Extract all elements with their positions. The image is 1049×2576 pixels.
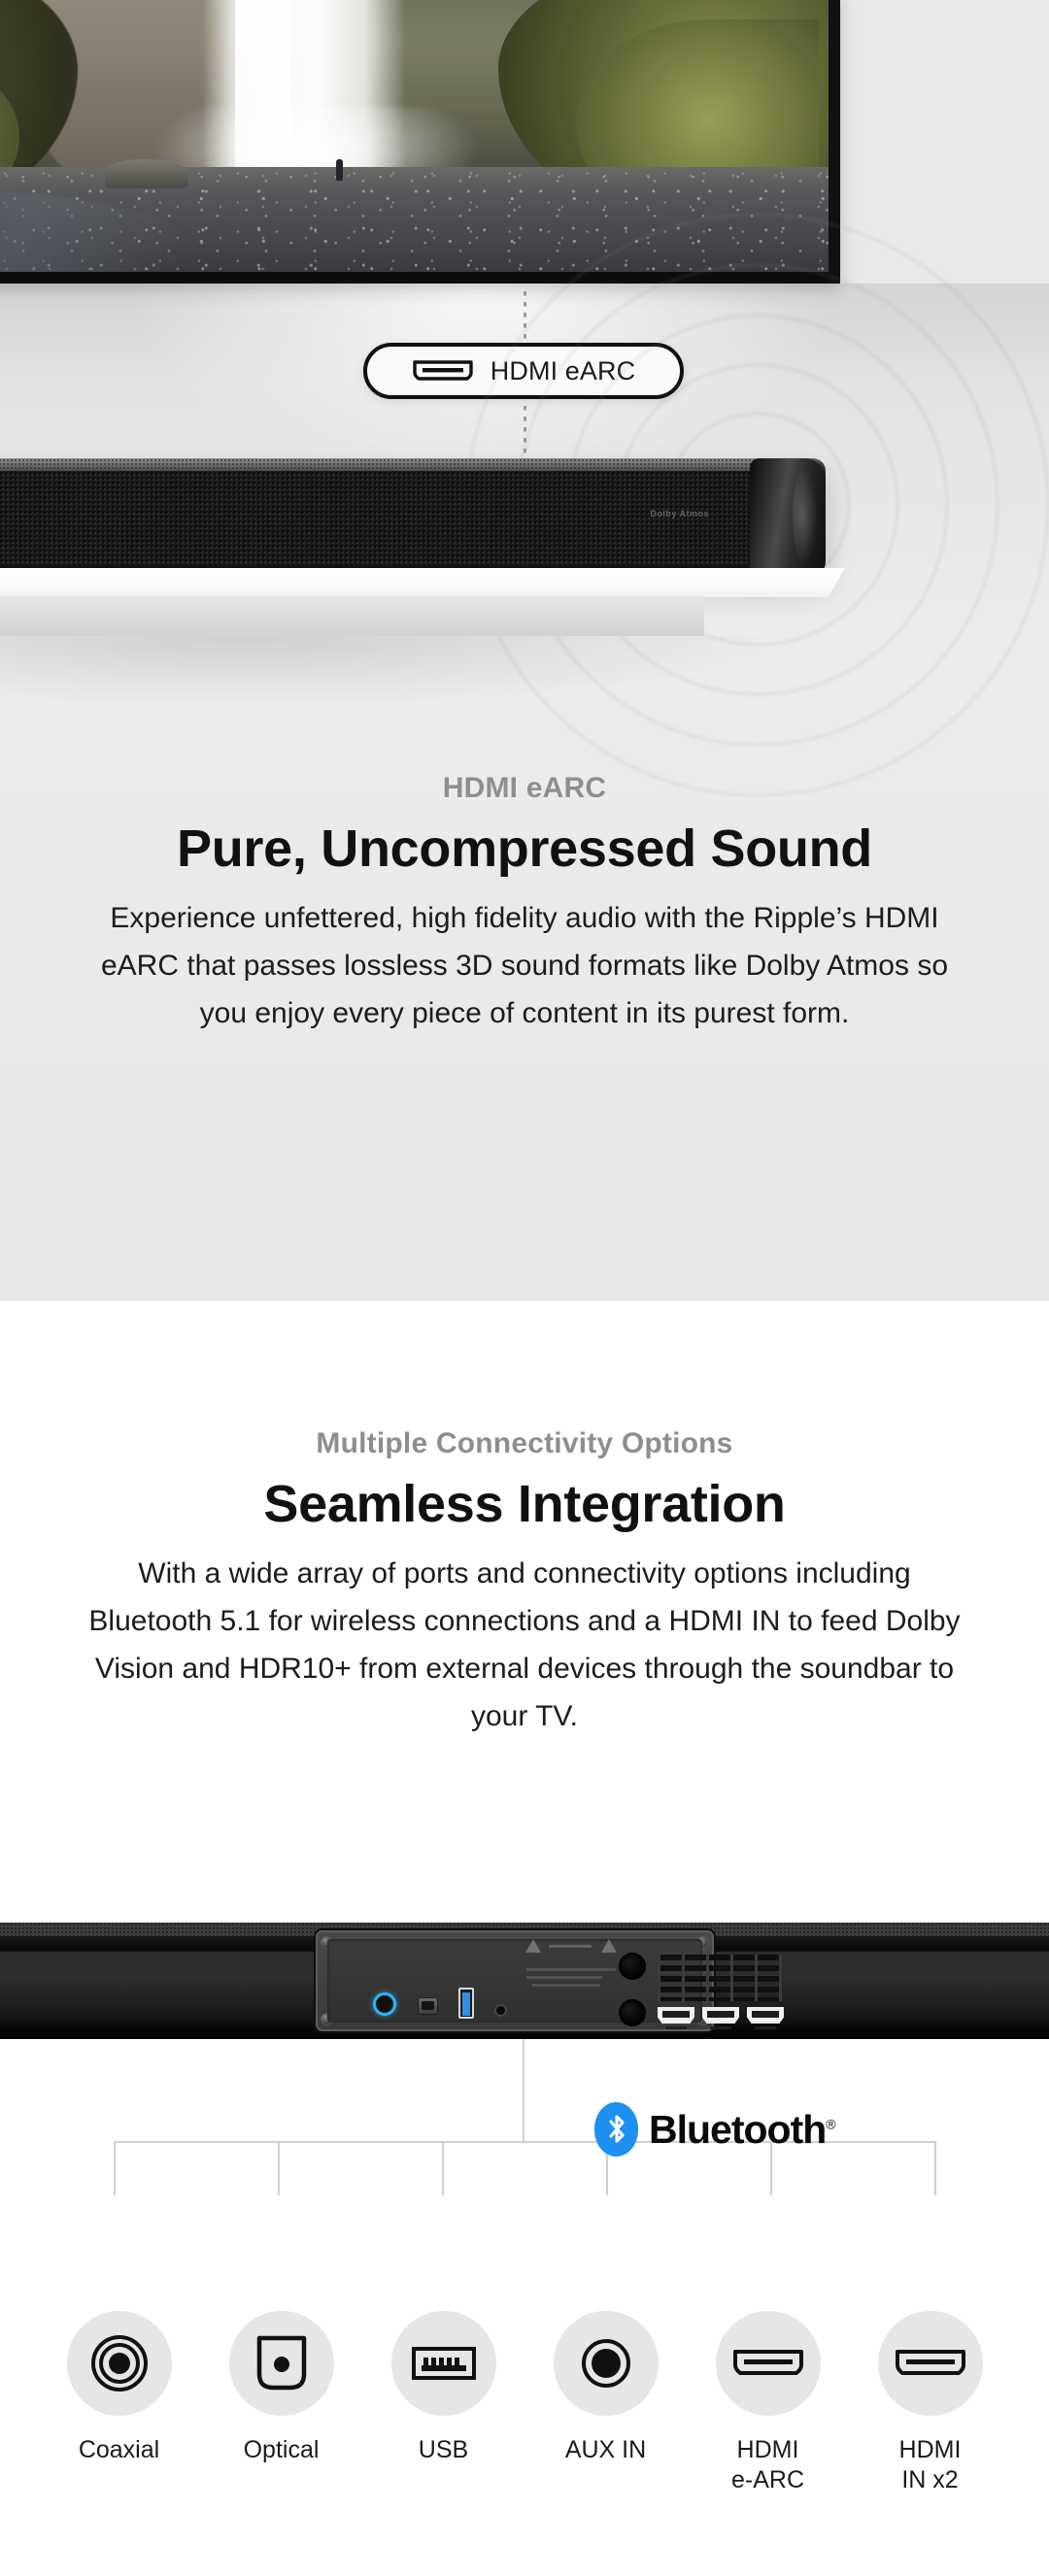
person-silhouette: [336, 159, 343, 181]
bluetooth-wordmark: Bluetooth®: [649, 2107, 836, 2153]
tree-drop: [114, 2141, 116, 2195]
optical-icon: [255, 2335, 308, 2392]
connector-tree: [0, 2039, 1049, 2156]
port-item-hdmi-earc[interactable]: HDMI e-ARC: [687, 2311, 849, 2495]
port-item-usb[interactable]: USB: [362, 2311, 524, 2495]
port-icon-row: Coaxial Optical: [0, 2311, 1049, 2495]
regulatory-label: [526, 1957, 616, 1991]
bluetooth-badge: [594, 2102, 638, 2157]
tree-drop: [442, 2141, 444, 2195]
shelf-shadow: [0, 636, 777, 704]
port-label: HDMI e-ARC: [731, 2435, 804, 2495]
wall-mount-hole: [619, 1953, 646, 1980]
port-label: Coaxial: [79, 2435, 159, 2465]
port-label: AUX IN: [565, 2435, 646, 2465]
rear-port-optical: [418, 1997, 438, 2015]
registered-mark: ®: [826, 2116, 835, 2131]
hdmi-in-icon: [895, 2348, 966, 2379]
rear-port-hdmi: [658, 2007, 694, 2024]
bluetooth-rune-icon: [606, 2111, 627, 2148]
rear-connector-plate: [316, 1930, 714, 2031]
bluetooth-lockup: Bluetooth®: [594, 2102, 836, 2157]
rear-port-aux: [494, 2004, 507, 2017]
rear-port-hdmi: [747, 2007, 784, 2024]
port-label: USB: [419, 2435, 468, 2465]
connectivity-section: Multiple Connectivity Options Seamless I…: [0, 1301, 1049, 2576]
headline-1: Pure, Uncompressed Sound: [0, 819, 1049, 879]
wall-mount-hole: [619, 1999, 646, 2026]
warning-triangle-icon: [601, 1939, 617, 1953]
usb-icon: [411, 2344, 477, 2383]
aux-in-icon: [579, 2336, 633, 2391]
warning-triangle-icon: [525, 1939, 541, 1953]
rear-hdmi-bank: [658, 2007, 784, 2030]
body-1: Experience unfettered, high fidelity aud…: [87, 894, 962, 1037]
body-2: With a wide array of ports and connectiv…: [87, 1550, 962, 1740]
ventilation-grille: [658, 1955, 782, 2001]
hero-section: HDMI eARC Dolby Atmos: [0, 0, 1049, 1301]
feature-copy-hdmi-earc: HDMI eARC Pure, Uncompressed Sound Exper…: [0, 772, 1049, 1037]
rear-port-coaxial: [373, 1992, 396, 2016]
tv-bezel: [0, 272, 829, 284]
port-label: HDMI IN x2: [899, 2435, 962, 2495]
coaxial-icon: [89, 2333, 150, 2393]
hdmi-earc-badge: HDMI eARC: [363, 343, 684, 399]
bluetooth-word: Bluetooth: [649, 2107, 826, 2152]
soundbar-end-cap: [750, 458, 826, 575]
soundbar-rear: [0, 1923, 1049, 2039]
eyebrow-2: Multiple Connectivity Options: [0, 1427, 1049, 1460]
soundbar-front: Dolby Atmos: [0, 458, 826, 575]
port-label: Optical: [244, 2435, 320, 2465]
rear-port-usb: [458, 1988, 474, 2019]
hdmi-plug-icon: [412, 358, 474, 384]
port-item-aux-in[interactable]: AUX IN: [524, 2311, 687, 2495]
wall-shelf: [0, 568, 845, 636]
tv-screen: [0, 0, 829, 274]
tree-stem: [523, 2039, 524, 2142]
dotted-connector-top: [524, 291, 526, 350]
eyebrow-1: HDMI eARC: [0, 772, 1049, 805]
port-item-optical[interactable]: Optical: [200, 2311, 362, 2495]
port-item-coaxial[interactable]: Coaxial: [38, 2311, 200, 2495]
port-item-hdmi-in[interactable]: HDMI IN x2: [849, 2311, 1011, 2495]
television: [0, 0, 840, 284]
tree-drop: [278, 2141, 280, 2195]
feature-copy-connectivity: Multiple Connectivity Options Seamless I…: [0, 1427, 1049, 1740]
tree-drop: [934, 2141, 936, 2195]
hdmi-earc-badge-label: HDMI eARC: [491, 356, 635, 386]
voltage-bolt-icon: [549, 1941, 592, 1953]
dolby-atmos-logo: Dolby Atmos: [650, 509, 709, 519]
headline-2: Seamless Integration: [0, 1474, 1049, 1534]
rear-port-hdmi: [702, 2007, 739, 2024]
dotted-connector-bottom: [524, 406, 526, 460]
hdmi-earc-icon: [732, 2348, 804, 2379]
